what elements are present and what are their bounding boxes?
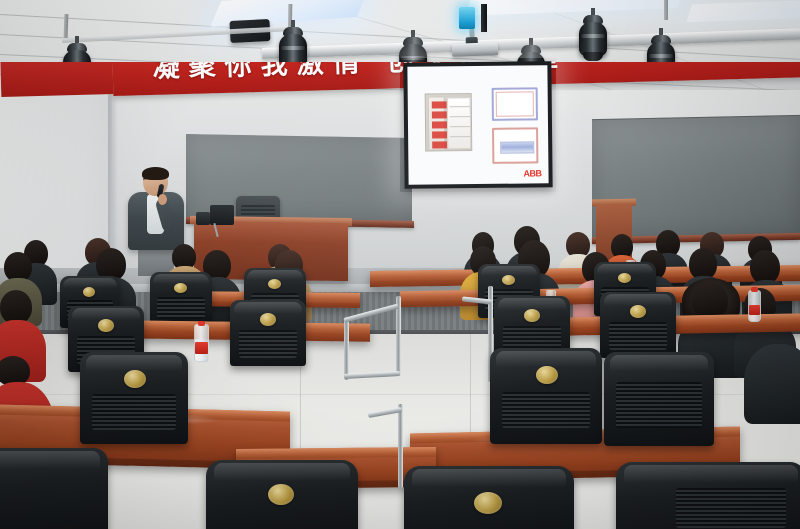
presenter-hand: [158, 194, 167, 205]
audience-chair: [404, 466, 574, 529]
slide-box-table: [492, 127, 538, 163]
cabinet-door: [428, 96, 446, 150]
audience-chair: [600, 292, 676, 358]
audience-chair: [490, 348, 602, 444]
slide-cabinet-photo: [425, 93, 473, 151]
truss-drop-rod: [664, 0, 668, 20]
audience-chair: [80, 352, 188, 444]
audience-chair: [0, 448, 108, 529]
cabinet-interior: [447, 97, 472, 149]
water-bottle-red-label: [748, 290, 761, 322]
audience-chair: [604, 352, 714, 446]
truss-drop-rod: [64, 14, 69, 38]
projection-screen: ABB: [403, 61, 552, 189]
audience-chair: [230, 300, 306, 366]
stage-monitor: [210, 205, 234, 225]
presenter-hair: [142, 167, 169, 180]
fluorescent-panel-3: [686, 0, 800, 22]
fluorescent-panel-2: [465, 0, 686, 16]
conference-hall-photo: 凝聚你我激情 创天成辉煌: [0, 0, 800, 529]
audience-chair: [206, 460, 358, 529]
projector-indicator: [459, 7, 475, 29]
abb-logo: ABB: [523, 168, 541, 178]
aisle-railing: [368, 404, 408, 488]
slide-table-graphic: [500, 141, 534, 153]
audience-chair: [150, 272, 212, 326]
ceiling-projector: [452, 36, 499, 60]
projector-body: [452, 42, 498, 57]
aisle-railing: [344, 296, 404, 382]
slide-box-empty: [492, 87, 538, 120]
banner-left-extension: [0, 62, 113, 97]
stage-equipment: [196, 212, 210, 225]
water-bottle-red-label: [194, 324, 209, 362]
audience-chair: [616, 462, 800, 529]
projection-screen-surface: ABB: [407, 65, 548, 184]
ceiling-pole: [481, 4, 487, 32]
